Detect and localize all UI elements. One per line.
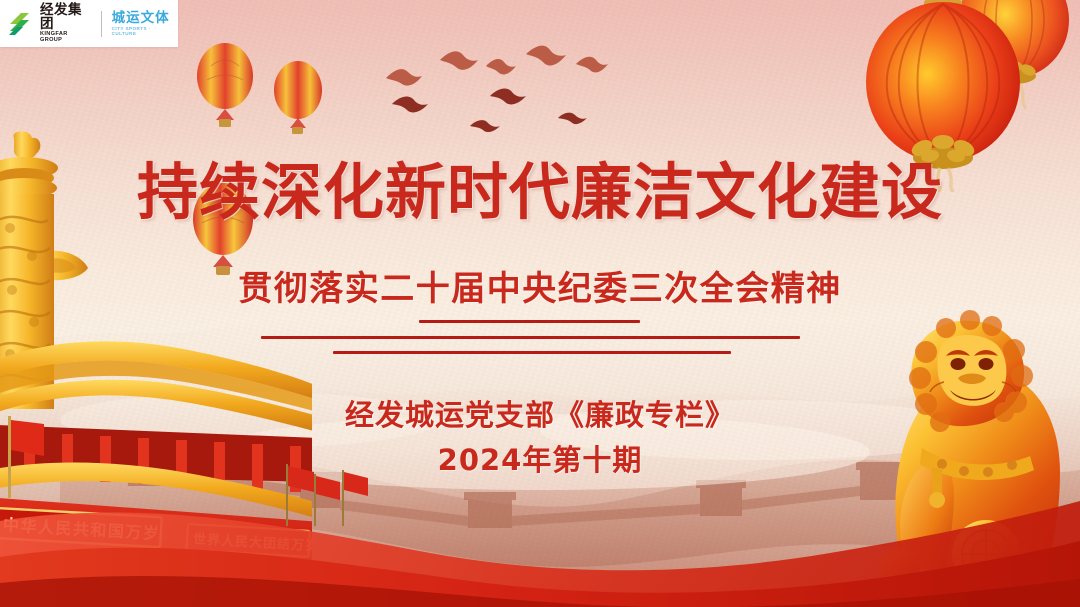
decorative-rule-1 xyxy=(419,320,640,323)
logo-secondary-en: CITY SPORTS · CULTURE xyxy=(112,27,171,36)
kingfar-logo-mark-icon xyxy=(8,11,34,37)
decorative-rules xyxy=(0,316,1080,376)
logo-primary-cn: 经发集团 xyxy=(40,3,91,30)
logo-secondary-text: 城运文体 CITY SPORTS · CULTURE xyxy=(112,11,171,36)
logo-divider xyxy=(101,11,102,37)
poster-content: 持续深化新时代廉洁文化建设 贯彻落实二十届中央纪委三次全会精神 经发城运党支部《… xyxy=(0,0,1080,607)
hot-air-balloon-icon xyxy=(180,28,360,158)
publisher-byline: 经发城运党支部《廉政专栏》 xyxy=(0,392,1080,434)
paper-grain-overlay xyxy=(0,0,1080,607)
poster-slide: 中华人民共和国万岁 世界人民大团结万岁 xyxy=(0,0,1080,607)
tiananmen-gate-icon: 中华人民共和国万岁 世界人民大团结万岁 xyxy=(0,324,312,569)
huabiao-column-icon xyxy=(0,128,108,428)
page-subtitle: 贯彻落实二十届中央纪委三次全会精神 xyxy=(0,261,1080,310)
decorative-rule-2 xyxy=(261,336,800,339)
red-flags-icon xyxy=(268,454,388,549)
decorative-rule-3 xyxy=(333,351,731,354)
logo-primary-en: KINGFAR GROUP xyxy=(40,32,91,43)
red-lantern-icon xyxy=(854,0,1032,192)
page-title: 持续深化新时代廉洁文化建设 xyxy=(0,142,1080,231)
company-logo: 经发集团 KINGFAR GROUP 城运文体 CITY SPORTS · CU… xyxy=(0,0,178,47)
flying-birds-icon xyxy=(378,42,608,132)
svg-text:世界人民大团结万岁: 世界人民大团结万岁 xyxy=(193,531,312,554)
svg-text:中华人民共和国万岁: 中华人民共和国万岁 xyxy=(3,515,161,543)
guardian-lion-icon xyxy=(846,266,1080,607)
hot-air-balloon-icon xyxy=(183,175,263,280)
logo-secondary-cn: 城运文体 xyxy=(112,11,171,25)
red-lantern-icon xyxy=(950,0,1078,109)
issue-number: 2024年第十期 xyxy=(0,437,1080,479)
logo-primary-text: 经发集团 KINGFAR GROUP xyxy=(40,3,91,43)
red-ribbon-wave xyxy=(0,457,1080,607)
background-landscape xyxy=(0,0,1080,607)
